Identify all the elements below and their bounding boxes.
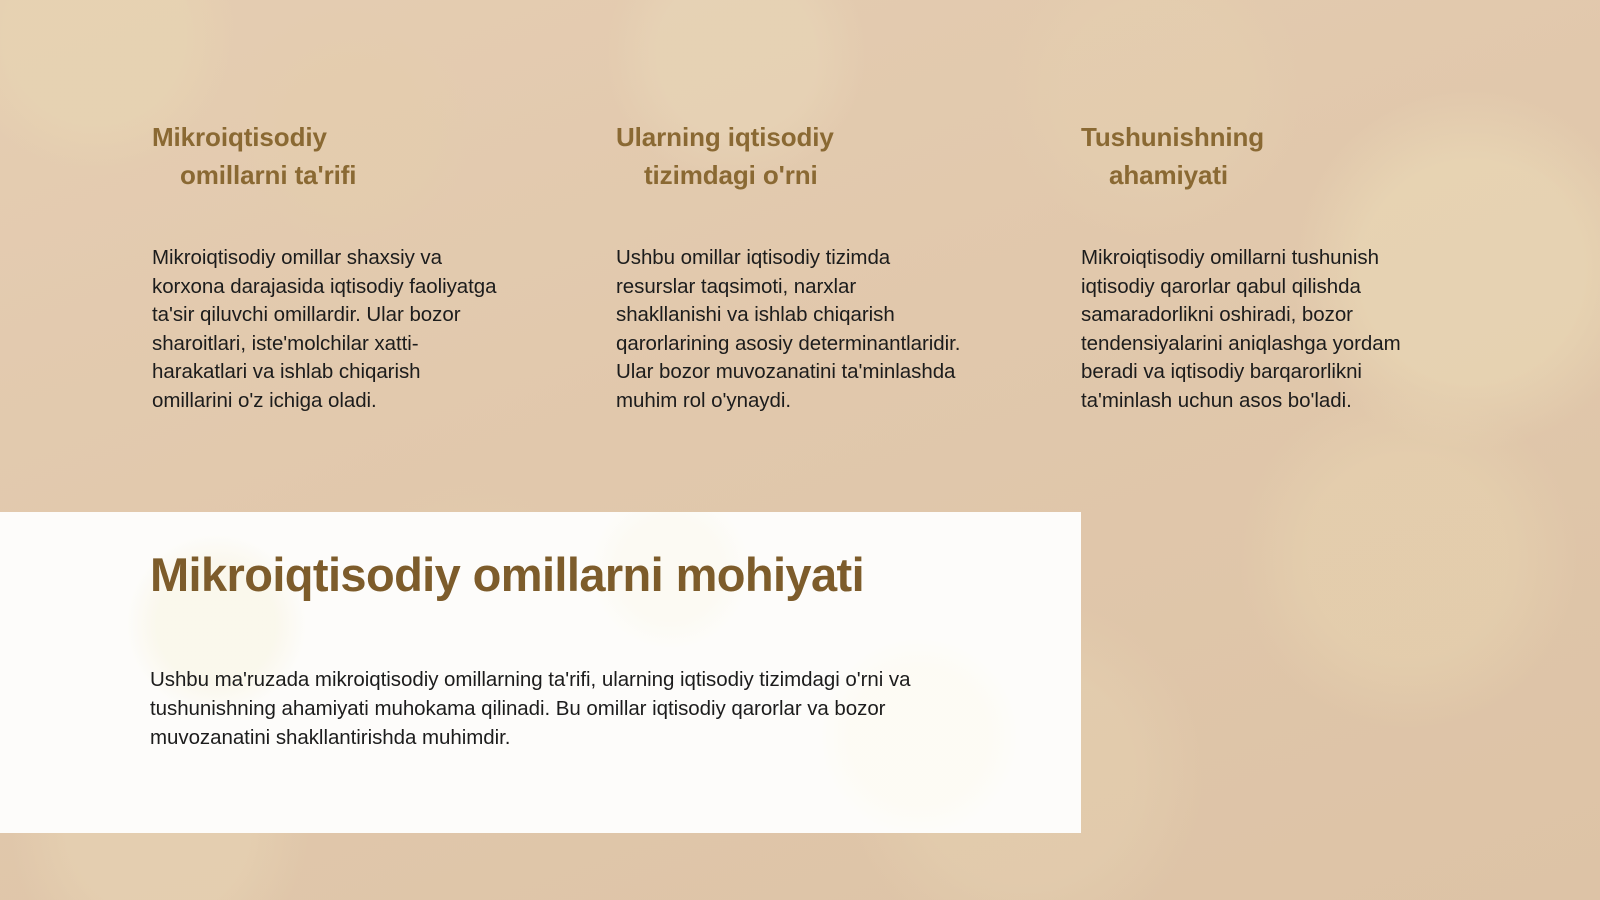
column-body-role: Ushbu omillar iqtisodiy tizimda resursla… (616, 244, 961, 416)
title-card: Mikroiqtisodiy omillarni mohiyati Ushbu … (0, 512, 1081, 833)
column-heading-role: Ularning iqtisodiy tizimdagi o'rni (616, 118, 961, 194)
column-body-definition: Mikroiqtisodiy omillar shaxsiy va korxon… (152, 244, 497, 416)
column-body-importance: Mikroiqtisodiy omillarni tushunish iqtis… (1081, 244, 1426, 416)
column-heading-importance: Tushunishning ahamiyati (1081, 118, 1426, 194)
three-column-section: Mikroiqtisodiy omillarni ta'rifi Mikroiq… (0, 0, 1600, 496)
page-title: Mikroiqtisodiy omillarni mohiyati (150, 544, 1050, 606)
column-importance: Tushunishning ahamiyati Mikroiqtisodiy o… (1081, 118, 1426, 416)
column-role: Ularning iqtisodiy tizimdagi o'rni Ushbu… (616, 118, 961, 416)
page-subtitle: Ushbu ma'ruzada mikroiqtisodiy omillarni… (150, 665, 940, 752)
title-card-content: Mikroiqtisodiy omillarni mohiyati Ushbu … (150, 512, 1050, 833)
slide-background: Mikroiqtisodiy omillarni ta'rifi Mikroiq… (0, 0, 1600, 900)
column-definition: Mikroiqtisodiy omillarni ta'rifi Mikroiq… (152, 118, 497, 416)
column-heading-definition: Mikroiqtisodiy omillarni ta'rifi (152, 118, 497, 194)
